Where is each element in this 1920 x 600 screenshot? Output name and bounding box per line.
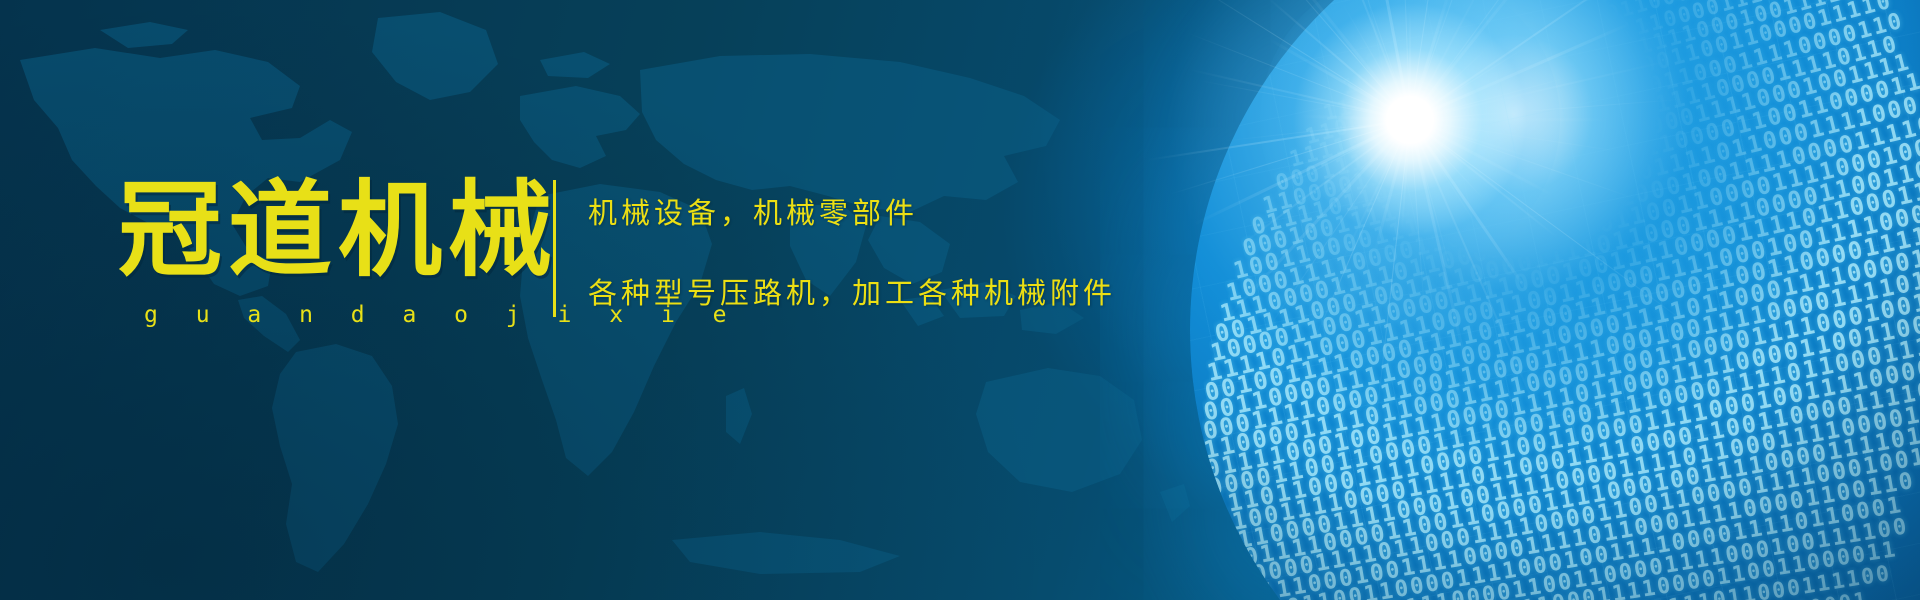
- banner-content: 冠道机械 g u a n d a o j i x i e 机械设备，机械零部件 …: [0, 0, 1920, 600]
- tagline-line-1: 机械设备，机械零部件: [588, 190, 1116, 232]
- tagline-line-2: 各种型号压路机，加工各种机械附件: [588, 270, 1116, 312]
- logo-block: 冠道机械 g u a n d a o j i x i e: [118, 178, 548, 328]
- company-name-cn: 冠道机械: [118, 178, 548, 282]
- vertical-divider: [553, 180, 556, 317]
- hero-banner: 0110001111000011001101111000011110110001…: [0, 0, 1920, 600]
- company-name-pinyin: g u a n d a o j i x i e: [144, 302, 548, 328]
- tagline-group: 机械设备，机械零部件 各种型号压路机，加工各种机械附件: [588, 190, 1116, 312]
